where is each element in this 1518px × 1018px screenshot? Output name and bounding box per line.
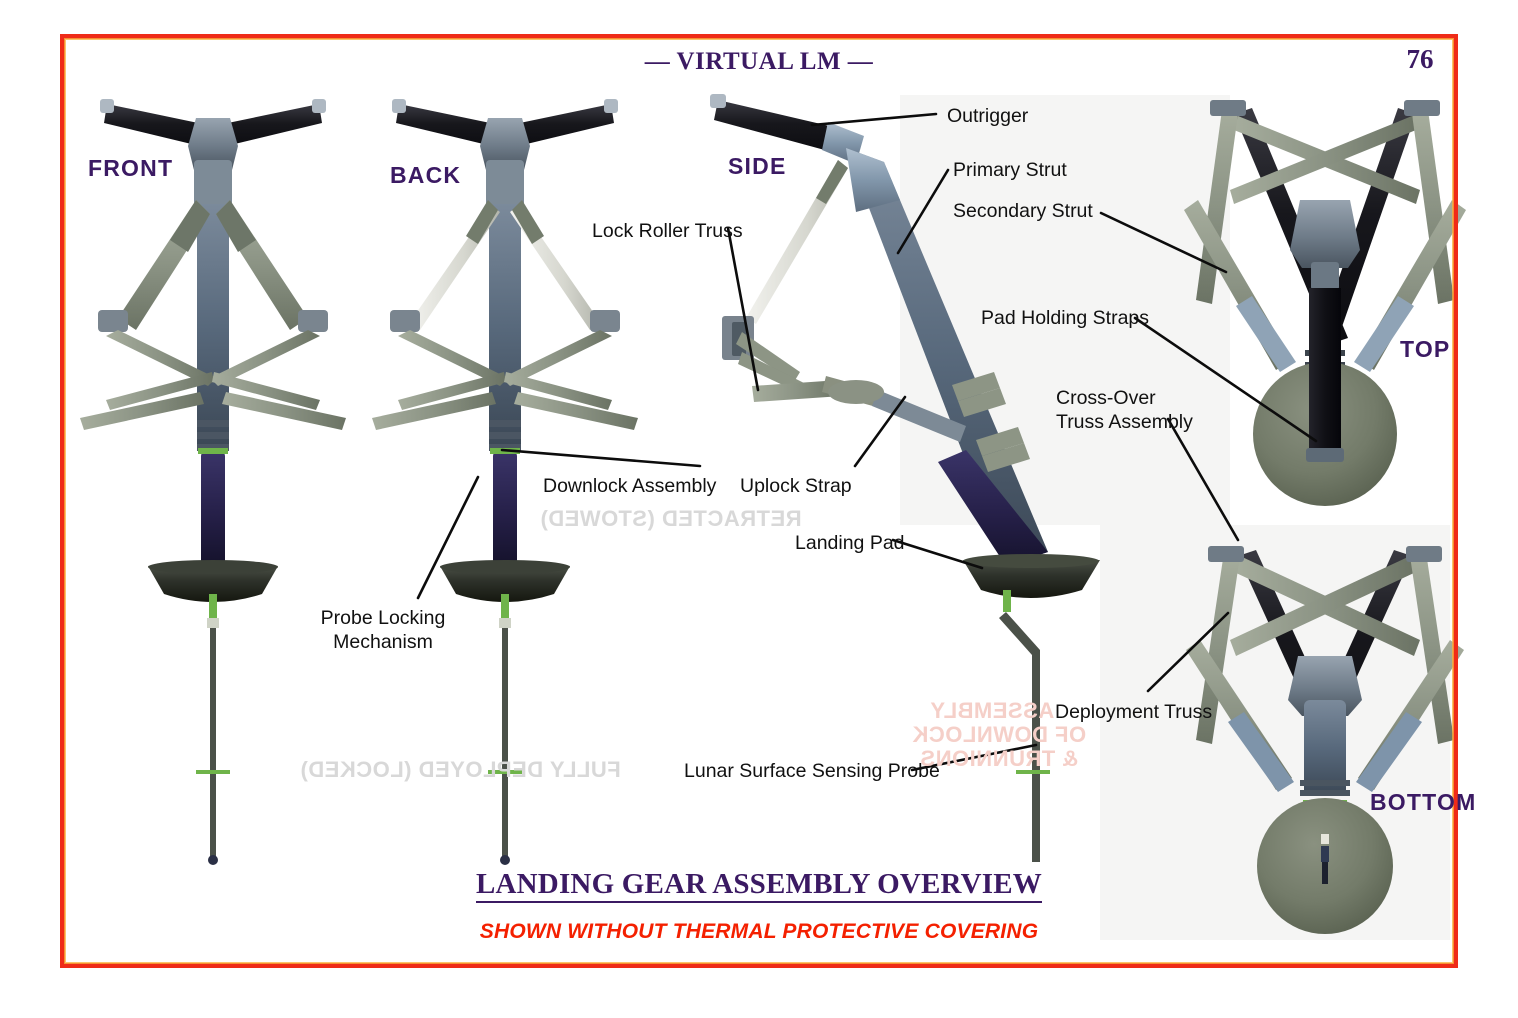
- view-label-bottom: BOTTOM: [1370, 789, 1476, 816]
- callout-lunar-surface-probe: Lunar Surface Sensing Probe: [684, 759, 940, 783]
- page-header: — VIRTUAL LM —: [0, 48, 1518, 76]
- callout-cross-over-truss: Cross-Over Truss Assembly: [1056, 386, 1193, 435]
- callout-secondary-strut: Secondary Strut: [953, 199, 1093, 223]
- view-label-top: TOP: [1400, 336, 1450, 363]
- page-subtitle: SHOWN WITHOUT THERMAL PROTECTIVE COVERIN…: [0, 920, 1518, 944]
- callout-landing-pad: Landing Pad: [795, 531, 905, 555]
- page-number: 76: [1380, 44, 1460, 75]
- callout-lock-roller-truss: Lock Roller Truss: [592, 219, 743, 243]
- callout-uplock-strap: Uplock Strap: [740, 474, 852, 498]
- page-title: LANDING GEAR ASSEMBLY OVERVIEW: [0, 868, 1518, 901]
- page-root: RETRACTED (STOWED) FULLY DEPLOYED (LOCKE…: [0, 0, 1518, 1018]
- callout-deployment-truss: Deployment Truss: [1055, 700, 1212, 724]
- callout-outrigger: Outrigger: [947, 104, 1028, 128]
- view-label-side: SIDE: [728, 153, 786, 180]
- view-label-front: FRONT: [88, 155, 173, 182]
- callout-primary-strut: Primary Strut: [953, 158, 1067, 182]
- page-title-text: LANDING GEAR ASSEMBLY OVERVIEW: [476, 868, 1042, 903]
- callout-downlock-assembly: Downlock Assembly: [543, 474, 716, 498]
- callout-probe-locking-mechanism: Probe Locking Mechanism: [298, 606, 468, 655]
- callout-pad-holding-straps: Pad Holding Straps: [981, 306, 1149, 330]
- view-label-back: BACK: [390, 162, 461, 189]
